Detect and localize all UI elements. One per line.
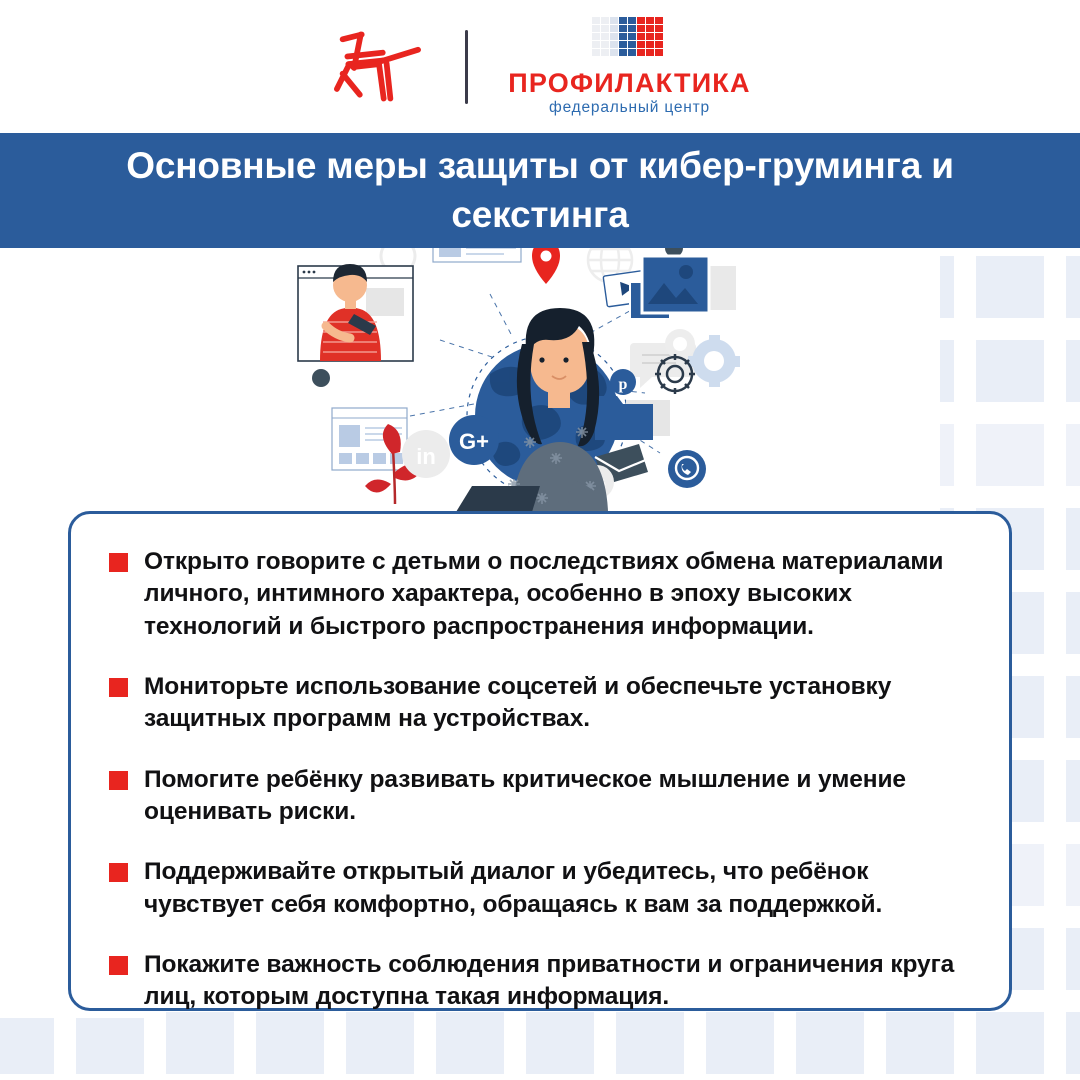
background-tile [436, 1012, 504, 1074]
linkedin-icon: in [402, 430, 450, 478]
background-tile [256, 1012, 324, 1074]
logo-divider [465, 30, 468, 104]
background-tile [76, 1012, 144, 1074]
background-tile [526, 1012, 594, 1074]
list-item: Поддерживайте открытый диалог и убедитес… [109, 856, 969, 921]
background-tile [886, 1012, 954, 1074]
brand-header: ПРОФИЛАКТИКА федеральный центр [0, 0, 1080, 133]
background-tile [1066, 340, 1080, 402]
bullet-marker [109, 553, 128, 572]
folder-icon [595, 396, 670, 440]
bullet-marker [109, 771, 128, 790]
document-card-icon [433, 248, 521, 262]
background-tile [976, 1012, 1044, 1074]
tip-text: Мониторьте использование соцсетей и обес… [144, 671, 969, 736]
background-tile [1066, 592, 1080, 654]
background-tile [976, 256, 1044, 318]
background-tile [976, 340, 1044, 402]
list-item: Открыто говорите с детьми о последствиях… [109, 546, 969, 643]
brand-subtitle: федеральный центр [549, 99, 710, 116]
page-title: Основные меры защиты от кибер-груминга и… [90, 142, 990, 240]
google-plus-icon: G+ [449, 415, 499, 465]
background-tile [1066, 928, 1080, 990]
image-photo-icons [630, 256, 736, 319]
background-tile [616, 1012, 684, 1074]
background-tile [1066, 676, 1080, 738]
background-tile [976, 424, 1044, 486]
bullet-marker [109, 956, 128, 975]
tips-card: Открыто говорите с детьми о последствиях… [68, 511, 1012, 1011]
decor-dot [312, 369, 330, 387]
svg-text:in: in [416, 444, 436, 469]
whatsapp-icon [668, 450, 706, 488]
brand-name: ПРОФИЛАКТИКА [508, 70, 750, 97]
tips-list: Открыто говорите с детьми о последствиях… [109, 546, 969, 1014]
svg-text:G+: G+ [459, 429, 489, 454]
svg-text:p: p [619, 376, 628, 393]
bullet-marker [109, 678, 128, 697]
list-item: Помогите ребёнку развивать критическое м… [109, 764, 969, 829]
list-item: Покажите важность соблюдения приватности… [109, 949, 969, 1014]
background-tile [796, 1012, 864, 1074]
list-item: Мониторьте использование соцсетей и обес… [109, 671, 969, 736]
background-tile [1066, 1012, 1080, 1074]
background-tile [166, 1012, 234, 1074]
background-tile [1066, 760, 1080, 822]
background-tile [346, 1012, 414, 1074]
tip-text: Поддерживайте открытый диалог и убедитес… [144, 856, 969, 921]
background-tile [0, 1012, 54, 1074]
background-tile [706, 1012, 774, 1074]
hero-illustration: G+ in p Bē [290, 248, 810, 538]
bullet-marker [109, 863, 128, 882]
title-banner: Основные меры защиты от кибер-груминга и… [0, 133, 1080, 248]
brand-block: ПРОФИЛАКТИКА федеральный центр [508, 17, 750, 116]
video-call-window [298, 264, 413, 361]
background-tile [1066, 256, 1080, 318]
background-tile [1066, 424, 1080, 486]
tip-text: Открыто говорите с детьми о последствиях… [144, 546, 969, 643]
location-pin-icon [532, 248, 560, 284]
chair-line-art-logo [329, 24, 425, 110]
pinterest-icon: p [610, 369, 636, 395]
background-tile [1066, 508, 1080, 570]
tip-text: Покажите важность соблюдения приватности… [144, 949, 969, 1014]
tip-text: Помогите ребёнку развивать критическое м… [144, 764, 969, 829]
background-tile [1066, 844, 1080, 906]
profilaktika-grid-mark-icon [592, 17, 666, 63]
